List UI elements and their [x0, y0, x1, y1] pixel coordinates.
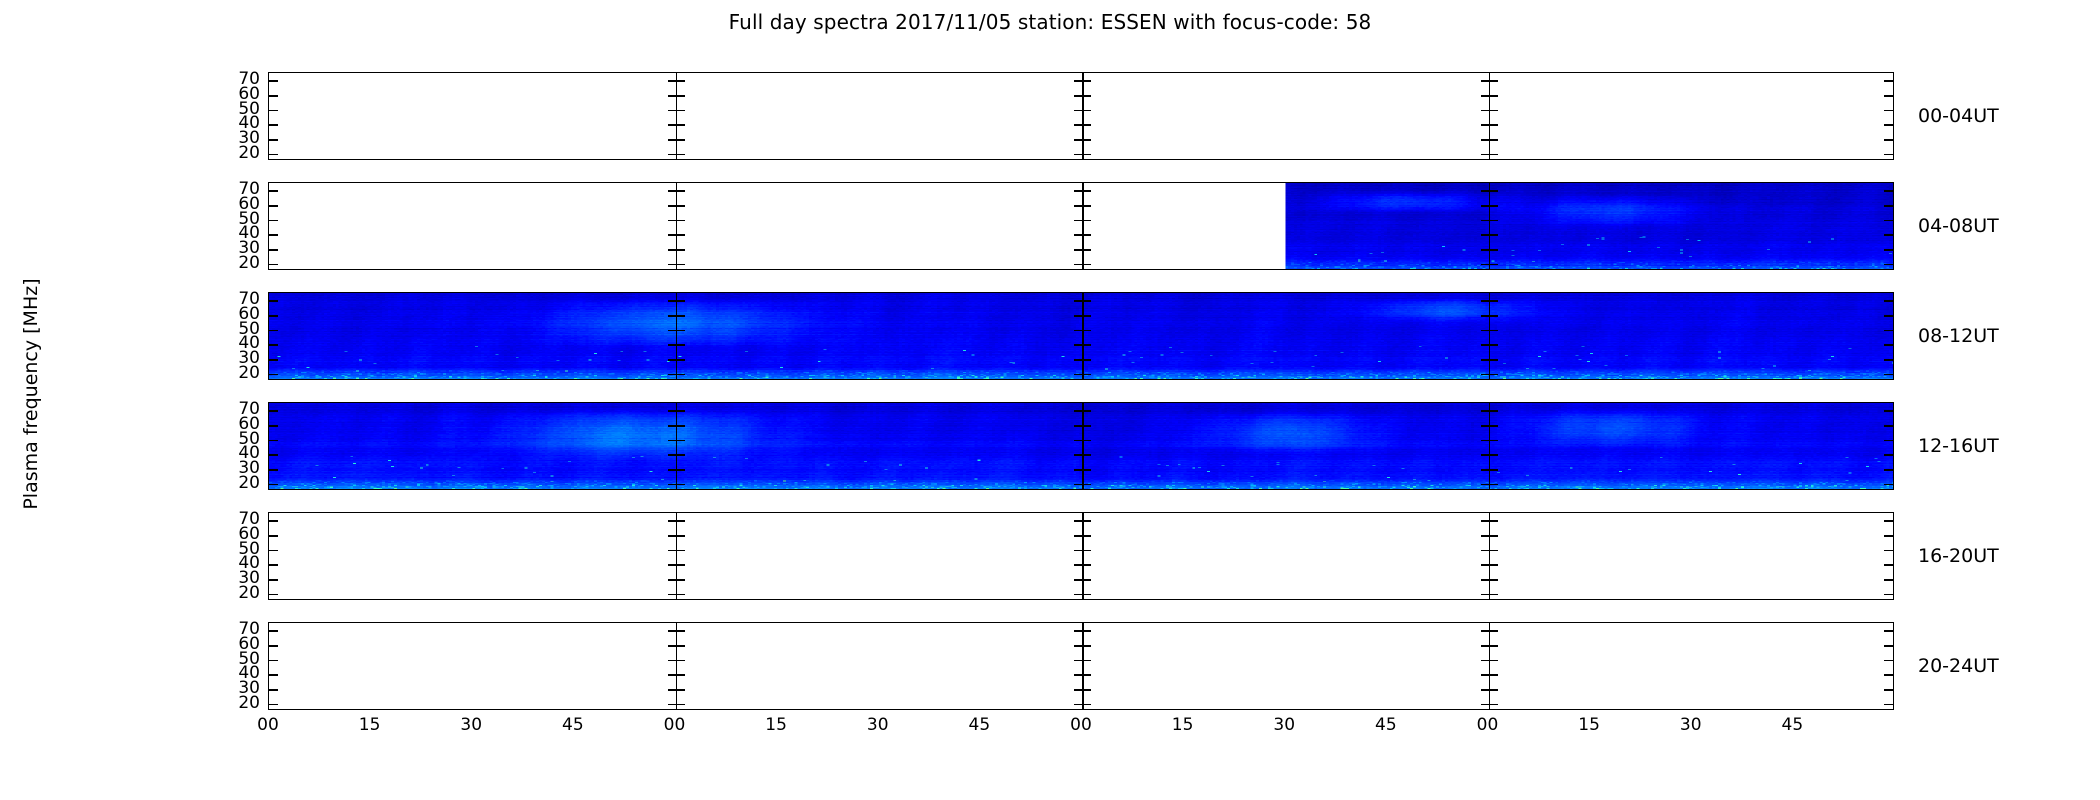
y-tick-mark [668, 139, 685, 141]
panel-caption-12-16ut: 12-16UT [1918, 436, 1999, 456]
y-tick-mark [269, 344, 278, 346]
y-tick-label: 20 [238, 365, 260, 382]
x-tick-label: 30 [867, 716, 889, 735]
spectrogram-panel-20-24ut[interactable] [268, 622, 1894, 710]
x-tick-label: 15 [765, 716, 787, 735]
y-tick-mark [269, 440, 278, 442]
y-tick-mark [269, 594, 278, 596]
panel-caption-00-04ut: 00-04UT [1918, 106, 1999, 126]
panel-caption-08-12ut: 08-12UT [1918, 326, 1999, 346]
panel-caption-04-08ut: 04-08UT [1918, 216, 1999, 236]
y-tick-mark [668, 124, 685, 126]
spectrogram-panel-00-04ut[interactable] [268, 72, 1894, 160]
x-tick-label: 15 [1172, 716, 1194, 735]
y-tick-mark [269, 374, 278, 376]
y-tick-mark [1884, 374, 1893, 376]
y-tick-mark [668, 359, 685, 361]
y-tick-mark [668, 410, 685, 412]
y-tick-mark [1481, 249, 1498, 251]
y-tick-mark [269, 660, 278, 662]
x-tick-label: 00 [664, 716, 686, 735]
hour-divider-line [1082, 293, 1084, 379]
y-tick-mark [1481, 440, 1498, 442]
y-tick-mark [269, 704, 278, 706]
y-tick-mark [1074, 300, 1091, 302]
y-tick-mark [269, 689, 278, 691]
y-tick-mark [1884, 190, 1893, 192]
y-tick-mark [1481, 190, 1498, 192]
y-tick-mark [1481, 359, 1498, 361]
panel-stack [268, 72, 1894, 710]
y-tick-mark [269, 359, 278, 361]
y-tick-label: 20 [238, 585, 260, 602]
hour-divider-line [1082, 403, 1084, 489]
y-tick-mark [1481, 220, 1498, 222]
y-tick-mark [1074, 344, 1091, 346]
y-tick-mark [269, 124, 278, 126]
y-tick-mark [1074, 520, 1091, 522]
y-tick-mark [269, 674, 278, 676]
y-tick-mark [269, 205, 278, 207]
hour-divider-line [676, 293, 678, 379]
y-tick-mark [1074, 440, 1091, 442]
y-tick-mark [1074, 124, 1091, 126]
y-tick-label-group: 706050403020 [200, 292, 260, 380]
hour-divider-line [1082, 513, 1084, 599]
y-tick-mark [1481, 264, 1498, 266]
x-tick-label: 30 [460, 716, 482, 735]
y-tick-mark [1074, 594, 1091, 596]
y-tick-mark [668, 80, 685, 82]
x-axis-tick-labels: 00153045001530450015304500153045 [268, 716, 1894, 742]
y-tick-mark [1074, 645, 1091, 647]
y-tick-mark [1884, 454, 1893, 456]
y-tick-mark [1884, 484, 1893, 486]
y-tick-mark [1074, 660, 1091, 662]
y-tick-mark [668, 550, 685, 552]
y-tick-mark [269, 520, 278, 522]
y-tick-mark [1074, 550, 1091, 552]
y-tick-label: 20 [238, 695, 260, 712]
y-tick-mark [1074, 425, 1091, 427]
hour-divider-line [676, 403, 678, 489]
y-tick-label: 20 [238, 255, 260, 272]
y-tick-mark [1884, 579, 1893, 581]
y-tick-mark [668, 660, 685, 662]
y-tick-mark [1884, 410, 1893, 412]
y-tick-mark [269, 315, 278, 317]
y-tick-mark [1884, 315, 1893, 317]
y-tick-mark [1481, 95, 1498, 97]
y-tick-mark [1884, 630, 1893, 632]
y-tick-mark [1481, 535, 1498, 537]
y-tick-mark [269, 645, 278, 647]
y-tick-label-group: 706050403020 [200, 182, 260, 270]
y-tick-mark [269, 330, 278, 332]
hour-divider-line [1489, 73, 1491, 159]
y-tick-mark [1884, 645, 1893, 647]
y-tick-mark [668, 315, 685, 317]
hour-divider-line [676, 73, 678, 159]
y-tick-mark [668, 704, 685, 706]
spectrogram-figure: Full day spectra 2017/11/05 station: ESS… [0, 0, 2100, 800]
y-tick-mark [1074, 689, 1091, 691]
y-tick-mark [1481, 454, 1498, 456]
y-tick-mark [1074, 80, 1091, 82]
y-tick-mark [668, 674, 685, 676]
y-tick-mark [1884, 704, 1893, 706]
y-tick-mark [1074, 220, 1091, 222]
y-tick-mark [1884, 124, 1893, 126]
y-tick-mark [269, 484, 278, 486]
y-tick-mark [1884, 139, 1893, 141]
y-tick-mark [668, 425, 685, 427]
hour-divider-line [1082, 183, 1084, 269]
y-tick-mark [1074, 535, 1091, 537]
y-tick-mark [1481, 154, 1498, 156]
y-tick-mark [1481, 674, 1498, 676]
y-tick-label: 20 [238, 475, 260, 492]
x-tick-label: 45 [1782, 716, 1804, 735]
y-tick-mark [269, 95, 278, 97]
y-tick-mark [1481, 374, 1498, 376]
y-tick-mark [1481, 469, 1498, 471]
y-tick-mark [269, 220, 278, 222]
y-tick-mark [1481, 564, 1498, 566]
y-tick-mark [1884, 249, 1893, 251]
y-tick-mark [668, 205, 685, 207]
y-tick-mark [668, 95, 685, 97]
x-tick-label: 15 [359, 716, 381, 735]
y-tick-mark [1481, 660, 1498, 662]
y-tick-mark [668, 110, 685, 112]
y-tick-mark [1884, 440, 1893, 442]
y-tick-mark [269, 234, 278, 236]
y-tick-mark [1884, 520, 1893, 522]
y-tick-mark [1481, 330, 1498, 332]
y-tick-mark [668, 535, 685, 537]
y-tick-mark [1884, 344, 1893, 346]
y-tick-mark [1074, 95, 1091, 97]
y-tick-mark [1074, 205, 1091, 207]
y-tick-mark [1884, 220, 1893, 222]
y-tick-mark [668, 564, 685, 566]
y-tick-mark [1074, 139, 1091, 141]
y-tick-mark [1481, 550, 1498, 552]
y-tick-mark [668, 374, 685, 376]
y-tick-mark [1481, 124, 1498, 126]
y-tick-mark [668, 220, 685, 222]
y-tick-mark [1074, 484, 1091, 486]
y-tick-mark [269, 190, 278, 192]
y-tick-mark [1074, 564, 1091, 566]
y-tick-mark [668, 469, 685, 471]
y-tick-mark [1481, 520, 1498, 522]
y-tick-mark [668, 579, 685, 581]
y-tick-mark [1884, 674, 1893, 676]
y-tick-mark [1884, 594, 1893, 596]
y-tick-label: 20 [238, 145, 260, 162]
y-tick-mark [1074, 330, 1091, 332]
y-tick-mark [1481, 315, 1498, 317]
y-tick-mark [1884, 154, 1893, 156]
y-tick-mark [668, 440, 685, 442]
y-tick-mark [1884, 359, 1893, 361]
y-tick-mark [1074, 234, 1091, 236]
hour-divider-line [676, 183, 678, 269]
y-tick-mark [1481, 704, 1498, 706]
y-tick-label-group: 706050403020 [200, 622, 260, 710]
y-tick-mark [269, 264, 278, 266]
y-tick-mark [1481, 425, 1498, 427]
y-tick-mark [1481, 344, 1498, 346]
hour-divider-line [1082, 623, 1084, 709]
hour-divider-line [1489, 293, 1491, 379]
y-tick-mark [1884, 469, 1893, 471]
x-tick-label: 30 [1680, 716, 1702, 735]
y-tick-mark [269, 579, 278, 581]
panel-caption-16-20ut: 16-20UT [1918, 546, 1999, 566]
y-tick-mark [668, 344, 685, 346]
y-tick-mark [1074, 579, 1091, 581]
y-tick-mark [1074, 454, 1091, 456]
y-tick-mark [1481, 80, 1498, 82]
spectrogram-panel-04-08ut[interactable] [268, 182, 1894, 270]
y-tick-mark [1481, 579, 1498, 581]
y-tick-mark [1884, 95, 1893, 97]
y-tick-mark [269, 425, 278, 427]
panel-caption-20-24ut: 20-24UT [1918, 656, 1999, 676]
y-tick-mark [1481, 484, 1498, 486]
y-tick-mark [668, 520, 685, 522]
y-tick-label-group: 706050403020 [200, 402, 260, 490]
y-tick-mark [1481, 300, 1498, 302]
hour-divider-line [1082, 73, 1084, 159]
y-axis-label: Plasma frequency [MHz] [20, 44, 44, 744]
y-tick-mark [269, 410, 278, 412]
hour-divider-line [1489, 513, 1491, 599]
spectrogram-panel-16-20ut[interactable] [268, 512, 1894, 600]
x-tick-label: 45 [969, 716, 991, 735]
y-tick-mark [269, 535, 278, 537]
y-tick-mark [668, 645, 685, 647]
spectrogram-panel-12-16ut[interactable] [268, 402, 1894, 490]
y-tick-mark [1481, 410, 1498, 412]
x-tick-label: 45 [1375, 716, 1397, 735]
y-tick-mark [1884, 425, 1893, 427]
y-tick-mark [668, 249, 685, 251]
y-tick-mark [1074, 674, 1091, 676]
y-tick-mark [1884, 205, 1893, 207]
spectrogram-panel-08-12ut[interactable] [268, 292, 1894, 380]
hour-divider-line [1489, 623, 1491, 709]
y-tick-mark [1481, 630, 1498, 632]
y-tick-mark [269, 469, 278, 471]
page-title: Full day spectra 2017/11/05 station: ESS… [0, 10, 2100, 34]
y-tick-mark [1884, 550, 1893, 552]
y-tick-mark [1884, 330, 1893, 332]
y-tick-mark [1884, 80, 1893, 82]
x-tick-label: 15 [1578, 716, 1600, 735]
y-tick-mark [1074, 410, 1091, 412]
y-tick-mark [1481, 139, 1498, 141]
y-tick-mark [1481, 205, 1498, 207]
y-tick-mark [668, 154, 685, 156]
y-tick-mark [668, 484, 685, 486]
x-tick-label: 30 [1273, 716, 1295, 735]
y-tick-mark [1884, 264, 1893, 266]
y-tick-mark [1074, 374, 1091, 376]
y-tick-mark [1074, 359, 1091, 361]
y-tick-mark [1481, 645, 1498, 647]
y-tick-mark [668, 264, 685, 266]
y-tick-mark [1884, 300, 1893, 302]
hour-divider-line [676, 623, 678, 709]
y-tick-mark [668, 300, 685, 302]
y-tick-mark [269, 300, 278, 302]
y-tick-mark [269, 139, 278, 141]
y-tick-mark [668, 454, 685, 456]
y-tick-mark [269, 249, 278, 251]
hour-divider-line [676, 513, 678, 599]
y-tick-mark [1884, 689, 1893, 691]
y-tick-mark [1074, 190, 1091, 192]
y-tick-mark [1884, 660, 1893, 662]
y-tick-mark [1481, 110, 1498, 112]
y-tick-label-group: 706050403020 [200, 512, 260, 600]
y-tick-mark [1884, 234, 1893, 236]
hour-divider-line [1489, 403, 1491, 489]
y-tick-mark [1074, 249, 1091, 251]
y-tick-mark [1884, 110, 1893, 112]
y-tick-mark [269, 80, 278, 82]
y-tick-mark [269, 110, 278, 112]
y-tick-mark [269, 154, 278, 156]
y-tick-mark [668, 190, 685, 192]
y-tick-mark [668, 630, 685, 632]
y-tick-mark [1074, 110, 1091, 112]
y-tick-mark [1074, 264, 1091, 266]
y-tick-mark [1074, 315, 1091, 317]
y-tick-mark [668, 234, 685, 236]
x-tick-label: 45 [562, 716, 584, 735]
y-tick-mark [1481, 594, 1498, 596]
y-tick-mark [1074, 704, 1091, 706]
hour-divider-line [1489, 183, 1491, 269]
y-tick-mark [1481, 689, 1498, 691]
y-tick-mark [269, 630, 278, 632]
y-tick-mark [1074, 154, 1091, 156]
y-tick-mark [1884, 535, 1893, 537]
y-tick-label-group: 706050403020 [200, 72, 260, 160]
y-tick-mark [668, 689, 685, 691]
x-tick-label: 00 [1070, 716, 1092, 735]
x-tick-label: 00 [1477, 716, 1499, 735]
y-tick-mark [1884, 564, 1893, 566]
y-tick-mark [1481, 234, 1498, 236]
y-tick-mark [1074, 469, 1091, 471]
y-tick-mark [269, 550, 278, 552]
y-tick-mark [668, 330, 685, 332]
y-tick-mark [668, 594, 685, 596]
x-tick-label: 00 [257, 716, 279, 735]
y-tick-mark [269, 454, 278, 456]
y-tick-mark [269, 564, 278, 566]
y-tick-mark [1074, 630, 1091, 632]
